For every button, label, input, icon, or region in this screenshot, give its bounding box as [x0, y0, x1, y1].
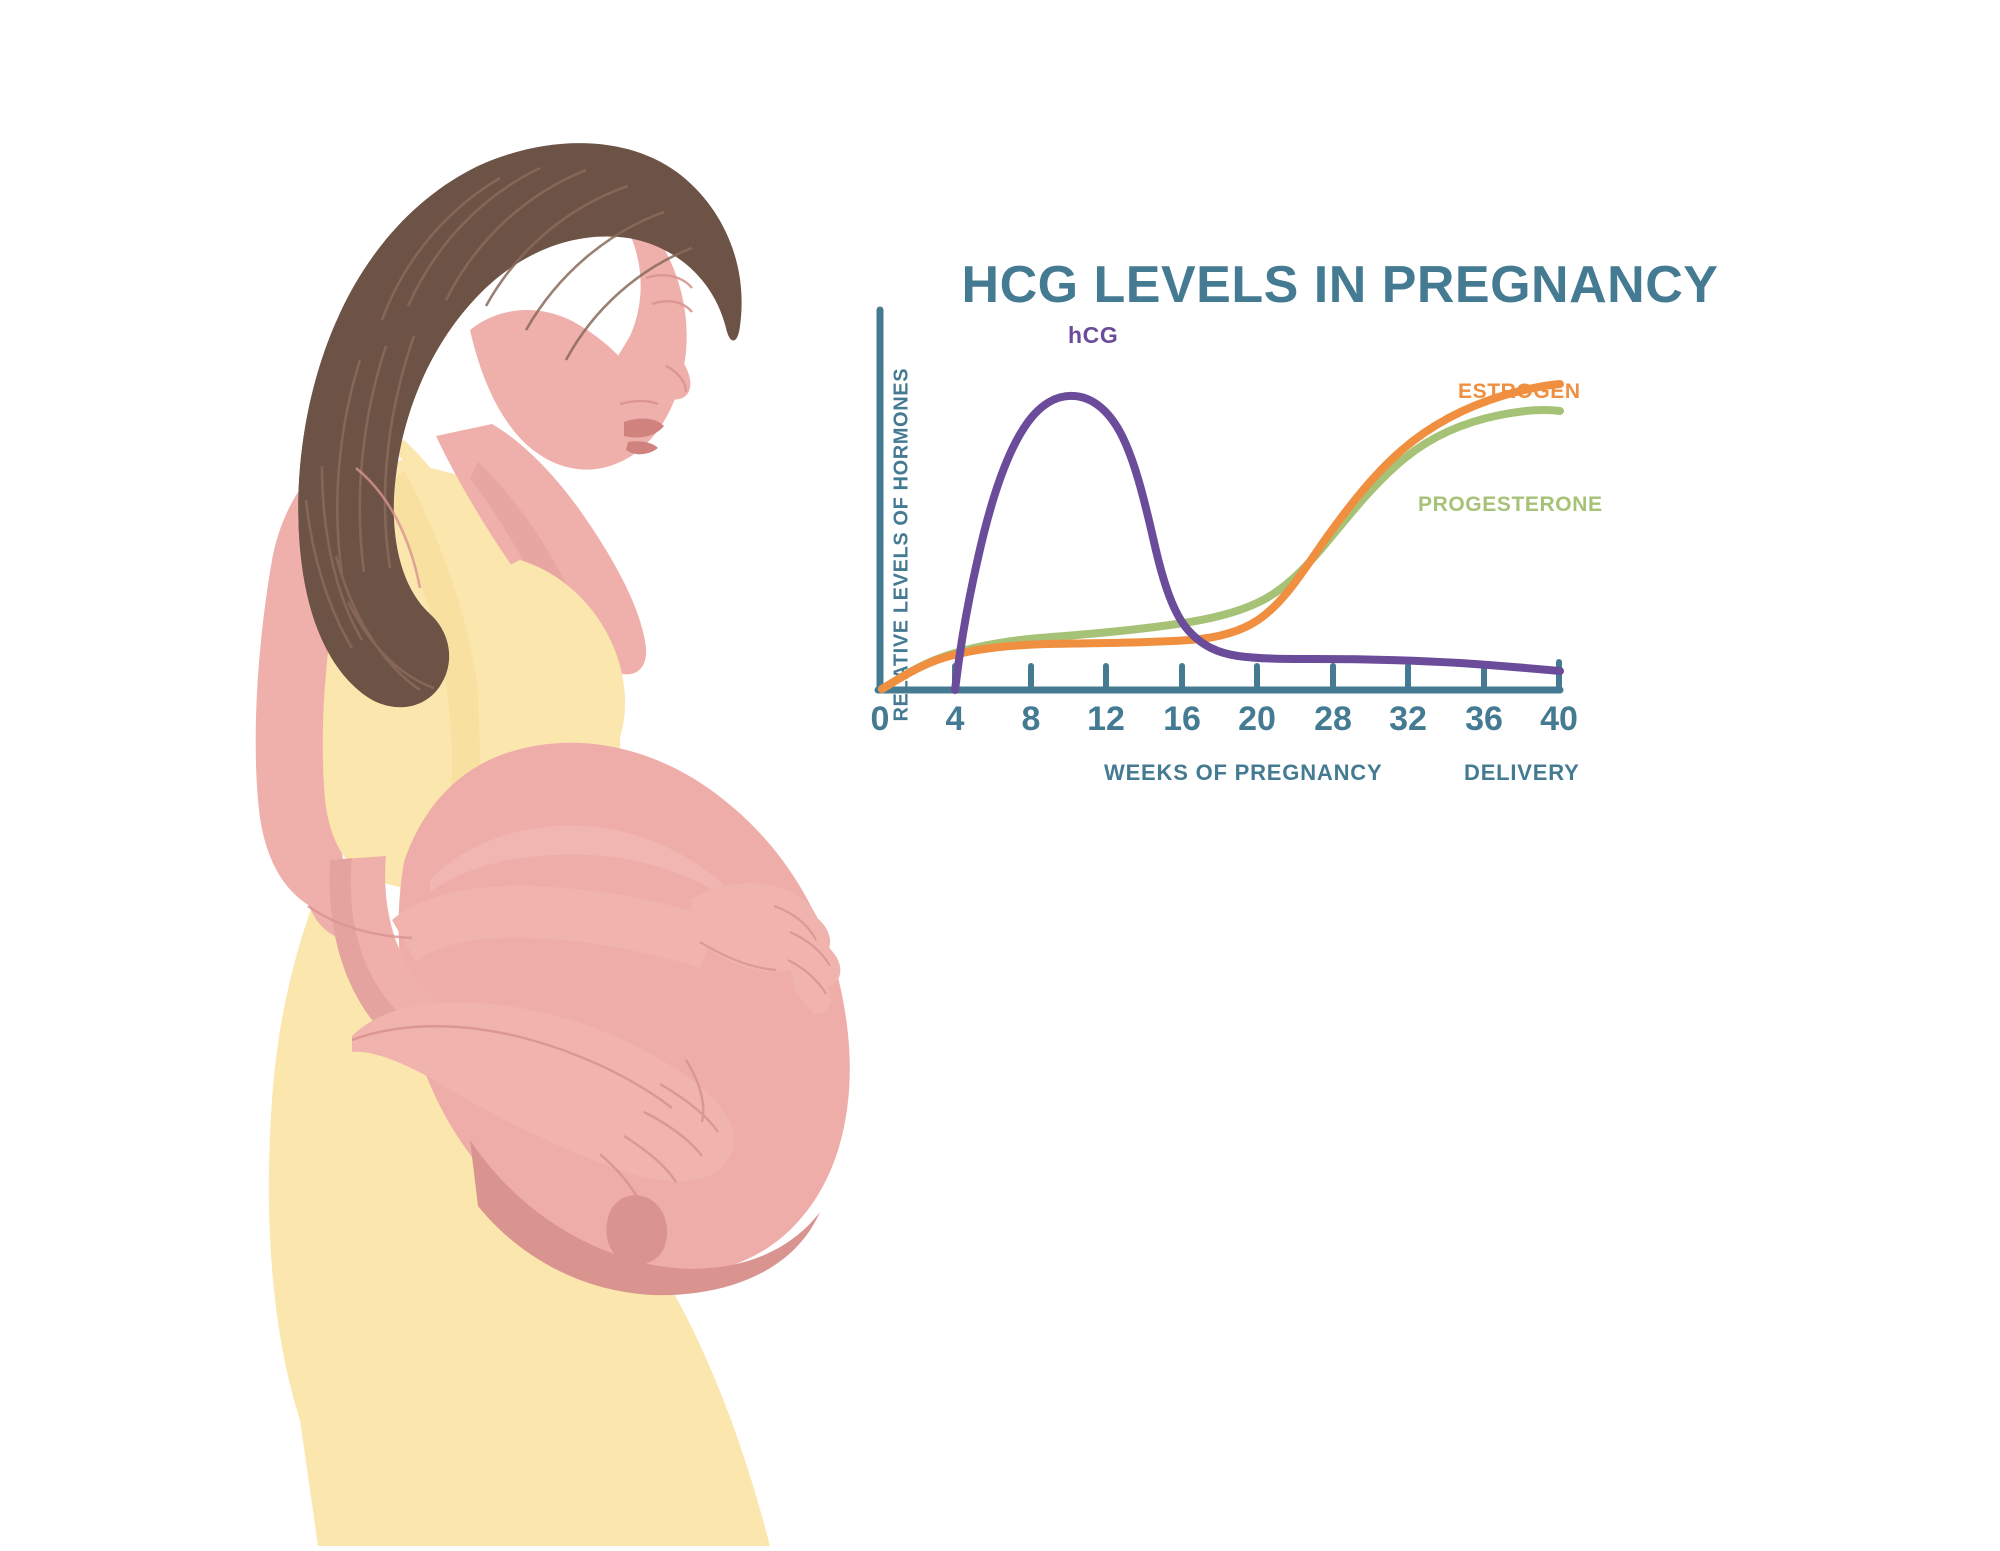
x-tick-label-20: 20 [1238, 700, 1276, 739]
x-axis-delivery-caption: DELIVERY [1464, 760, 1580, 786]
series-label-hcg: hCG [1068, 322, 1118, 349]
series-label-progesterone: PROGESTERONE [1418, 493, 1603, 517]
x-tick-label-28: 28 [1314, 700, 1352, 739]
x-tick-label-0: 0 [871, 700, 890, 739]
infographic-canvas: HCG LEVELS IN PREGNANCY RELATIVE LEVELS … [0, 0, 2000, 1546]
pregnant-woman-illustration [0, 0, 900, 1546]
x-tick-label-36: 36 [1465, 700, 1503, 739]
plot-svg [860, 200, 1980, 980]
x-tick-label-40: 40 [1540, 700, 1578, 739]
series-label-estrogen: ESTROGEN [1458, 380, 1581, 404]
x-tick-label-16: 16 [1163, 700, 1201, 739]
x-tick-label-32: 32 [1389, 700, 1427, 739]
x-tick-label-8: 8 [1022, 700, 1041, 739]
hcg-chart: HCG LEVELS IN PREGNANCY RELATIVE LEVELS … [860, 200, 1980, 980]
x-axis-caption: WEEKS OF PREGNANCY [1104, 760, 1382, 786]
x-tick-label-4: 4 [946, 700, 965, 739]
x-tick-label-12: 12 [1087, 700, 1125, 739]
